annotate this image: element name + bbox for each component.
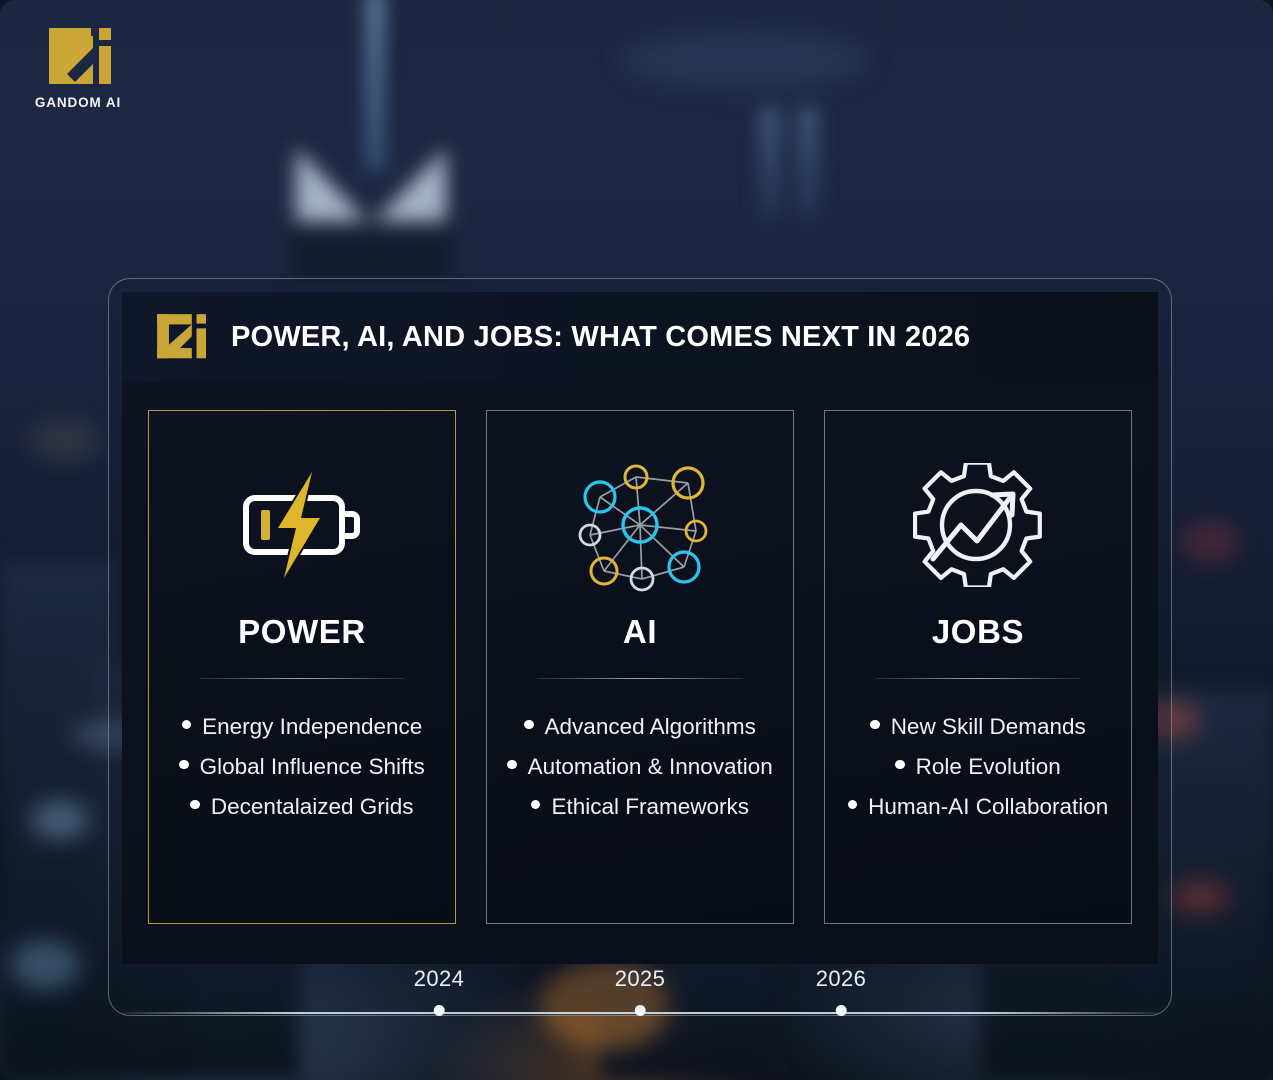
list-item: Global Influence Shifts: [163, 747, 441, 787]
card-title-ai: AI: [623, 613, 657, 651]
bullet-dot-icon: [179, 760, 188, 769]
timeline-node-2024[interactable]: 2024: [414, 966, 465, 1016]
card-title-jobs: JOBS: [932, 613, 1024, 651]
cards-row: POWER Energy Independence Global Influen…: [122, 382, 1158, 964]
bullet-text: Global Influence Shifts: [200, 754, 425, 779]
list-item: New Skill Demands: [839, 707, 1117, 747]
bullet-text: Human-AI Collaboration: [868, 794, 1108, 819]
bullet-dot-icon: [182, 720, 191, 729]
list-item: Ethical Frameworks: [501, 787, 779, 827]
timeline-node-2026[interactable]: 2026: [816, 966, 867, 1016]
timeline-label: 2024: [414, 966, 465, 992]
bullet-text: Role Evolution: [916, 754, 1061, 779]
battery-charging-icon: [234, 449, 370, 601]
page-title: POWER, AI, AND JOBS: WHAT COMES NEXT IN …: [231, 321, 970, 354]
slide-panel: POWER, AI, AND JOBS: WHAT COMES NEXT IN …: [122, 292, 1158, 964]
list-item: Advanced Algorithms: [501, 707, 779, 747]
bullet-text: Energy Independence: [202, 714, 422, 739]
card-bullets-ai: Advanced Algorithms Automation & Innovat…: [501, 707, 779, 827]
bullet-text: New Skill Demands: [891, 714, 1086, 739]
bullet-dot-icon: [507, 760, 516, 769]
bullet-dot-icon: [190, 800, 199, 809]
gandom-g-mark-icon: [45, 26, 111, 88]
slide-title-bar: POWER, AI, AND JOBS: WHAT COMES NEXT IN …: [122, 292, 1158, 382]
timeline-dot-icon: [835, 1005, 846, 1016]
timeline-dot-icon: [434, 1005, 445, 1016]
timeline-dot-icon: [634, 1005, 645, 1016]
bullet-text: Advanced Algorithms: [545, 714, 756, 739]
bullet-text: Automation & Innovation: [528, 754, 773, 779]
list-item: Decentalaized Grids: [163, 787, 441, 827]
gear-growth-arrow-icon: [913, 449, 1043, 601]
bullet-text: Ethical Frameworks: [551, 794, 749, 819]
list-item: Energy Independence: [163, 707, 441, 747]
card-bullets-jobs: New Skill Demands Role Evolution Human-A…: [839, 707, 1117, 827]
timeline-label: 2025: [615, 966, 666, 992]
bullet-dot-icon: [895, 760, 904, 769]
brand-logo: GANDOM AI: [30, 26, 126, 110]
card-jobs[interactable]: JOBS New Skill Demands Role Evolution Hu…: [824, 410, 1132, 924]
card-divider: [537, 678, 743, 679]
bullet-dot-icon: [870, 720, 879, 729]
gandom-g-mark-icon: [154, 312, 206, 362]
list-item: Role Evolution: [839, 747, 1117, 787]
card-title-power: POWER: [238, 613, 366, 651]
card-divider: [875, 678, 1081, 679]
timeline-node-2025[interactable]: 2025: [615, 966, 666, 1016]
neural-network-nodes-icon: [560, 449, 720, 601]
brand-name: GANDOM AI: [30, 95, 126, 110]
card-bullets-power: Energy Independence Global Influence Shi…: [163, 707, 441, 827]
card-ai[interactable]: AI Advanced Algorithms Automation & Inno…: [486, 410, 794, 924]
list-item: Automation & Innovation: [501, 747, 779, 787]
timeline: 2024 2025 2026: [122, 966, 1158, 1028]
card-divider: [199, 678, 405, 679]
bullet-dot-icon: [524, 720, 533, 729]
slide-canvas: GANDOM AI POWER, AI, AND JOBS: WHAT COME…: [0, 0, 1273, 1080]
timeline-label: 2026: [816, 966, 867, 992]
bullet-dot-icon: [531, 800, 540, 809]
bullet-dot-icon: [848, 800, 857, 809]
bullet-text: Decentalaized Grids: [211, 794, 414, 819]
list-item: Human-AI Collaboration: [839, 787, 1117, 827]
card-power[interactable]: POWER Energy Independence Global Influen…: [148, 410, 456, 924]
